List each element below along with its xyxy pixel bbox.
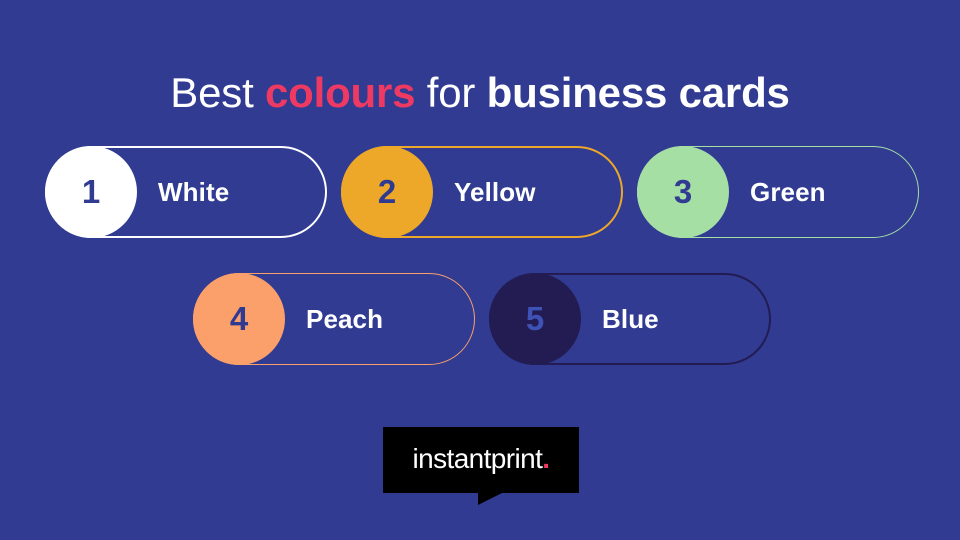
- colour-item-green[interactable]: 3 Green: [637, 146, 919, 238]
- logo-dot: .: [542, 443, 549, 474]
- rank-number: 1: [82, 175, 100, 208]
- rank-badge: 1: [45, 146, 137, 238]
- logo-name: instantprint: [413, 443, 543, 474]
- rank-badge: 2: [341, 146, 433, 238]
- rank-number: 4: [230, 302, 248, 335]
- colour-label: Blue: [602, 273, 659, 365]
- speech-bubble-icon: instantprint.: [383, 427, 579, 493]
- instantprint-logo[interactable]: instantprint.: [383, 427, 579, 505]
- rank-number: 5: [526, 302, 544, 335]
- spacer: [623, 146, 637, 238]
- colour-list-row-1: 1 White 2 Yellow 3 Green: [45, 146, 919, 238]
- rank-badge: 5: [489, 273, 581, 365]
- colour-item-white[interactable]: 1 White: [45, 146, 327, 238]
- colour-item-blue[interactable]: 5 Blue: [489, 273, 771, 365]
- page-title: Best colours for business cards: [0, 68, 960, 118]
- colour-item-peach[interactable]: 4 Peach: [193, 273, 475, 365]
- rank-badge: 4: [193, 273, 285, 365]
- rank-number: 2: [378, 175, 396, 208]
- colour-label: White: [158, 146, 229, 238]
- spacer: [327, 146, 341, 238]
- infographic-canvas: Best colours for business cards 1 White …: [0, 0, 960, 540]
- title-word-best: Best: [170, 69, 265, 116]
- logo-wordmark: instantprint.: [413, 445, 550, 473]
- speech-bubble-tail-icon: [478, 492, 504, 505]
- colour-item-yellow[interactable]: 2 Yellow: [341, 146, 623, 238]
- rank-badge: 3: [637, 146, 729, 238]
- title-word-business-cards: business cards: [487, 69, 790, 116]
- colour-label: Green: [750, 146, 826, 238]
- title-word-colours: colours: [265, 69, 415, 116]
- rank-number: 3: [674, 175, 692, 208]
- title-word-for: for: [415, 69, 486, 116]
- colour-label: Yellow: [454, 146, 536, 238]
- spacer: [475, 273, 489, 365]
- colour-list-row-2: 4 Peach 5 Blue: [193, 273, 771, 365]
- colour-label: Peach: [306, 273, 383, 365]
